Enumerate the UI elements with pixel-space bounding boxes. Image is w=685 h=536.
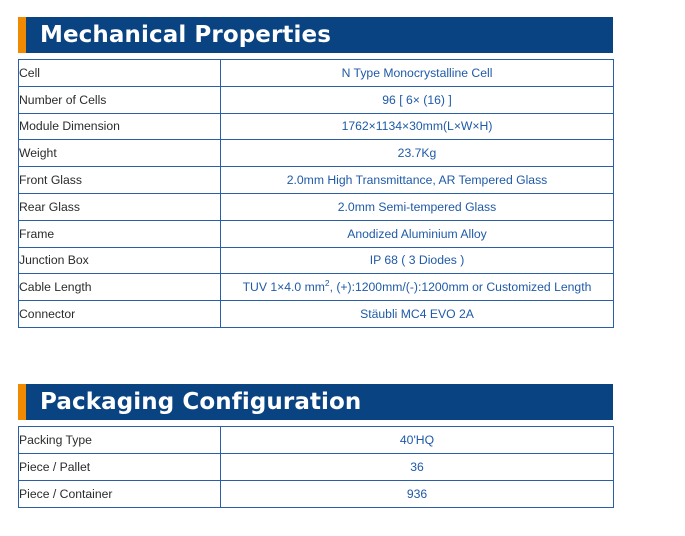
mechanical-properties-table: Cell N Type Monocrystalline Cell Number … (18, 59, 614, 328)
table-row: Cable Length TUV 1×4.0 mm2, (+):1200mm/(… (19, 274, 614, 301)
section-mechanical-properties: Mechanical Properties Cell N Type Monocr… (18, 17, 613, 328)
accent-bar-icon (18, 17, 26, 53)
row-value-cable-length: TUV 1×4.0 mm2, (+):1200mm/(-):1200mm or … (221, 274, 614, 301)
table-row: Connector Stäubli MC4 EVO 2A (19, 301, 614, 328)
row-label: Piece / Container (19, 481, 221, 508)
section-packaging-configuration: Packaging Configuration Packing Type 40'… (18, 384, 613, 508)
row-label: Module Dimension (19, 113, 221, 140)
table-row: Cell N Type Monocrystalline Cell (19, 60, 614, 87)
table-row: Number of Cells 96 [ 6× (16) ] (19, 86, 614, 113)
row-label: Piece / Pallet (19, 454, 221, 481)
cable-length-pre: TUV 1×4.0 mm (243, 280, 325, 294)
section-title-packaging: Packaging Configuration (40, 391, 361, 414)
cable-length-post: , (+):1200mm/(-):1200mm or Customized Le… (330, 280, 592, 294)
row-value: 40'HQ (221, 427, 614, 454)
row-value: 1762×1134×30mm(L×W×H) (221, 113, 614, 140)
table-row: Packing Type 40'HQ (19, 427, 614, 454)
row-label: Junction Box (19, 247, 221, 274)
section-title-mechanical: Mechanical Properties (40, 24, 331, 47)
row-label: Cable Length (19, 274, 221, 301)
row-label: Rear Glass (19, 193, 221, 220)
row-value: Stäubli MC4 EVO 2A (221, 301, 614, 328)
table-row: Weight 23.7Kg (19, 140, 614, 167)
datasheet-page: Mechanical Properties Cell N Type Monocr… (0, 0, 685, 536)
row-value: 96 [ 6× (16) ] (221, 86, 614, 113)
row-value: 936 (221, 481, 614, 508)
row-label: Front Glass (19, 167, 221, 194)
section-header-mechanical: Mechanical Properties (18, 17, 613, 53)
row-value: IP 68 ( 3 Diodes ) (221, 247, 614, 274)
table-row: Frame Anodized Aluminium Alloy (19, 220, 614, 247)
row-value: 23.7Kg (221, 140, 614, 167)
row-value: 36 (221, 454, 614, 481)
row-label: Frame (19, 220, 221, 247)
row-value: 2.0mm High Transmittance, AR Tempered Gl… (221, 167, 614, 194)
section-header-packaging: Packaging Configuration (18, 384, 613, 420)
row-value: N Type Monocrystalline Cell (221, 60, 614, 87)
accent-bar-icon (18, 384, 26, 420)
row-label: Weight (19, 140, 221, 167)
packaging-configuration-table: Packing Type 40'HQ Piece / Pallet 36 Pie… (18, 426, 614, 508)
row-value: Anodized Aluminium Alloy (221, 220, 614, 247)
table-row: Front Glass 2.0mm High Transmittance, AR… (19, 167, 614, 194)
table-row: Junction Box IP 68 ( 3 Diodes ) (19, 247, 614, 274)
table-row: Piece / Container 936 (19, 481, 614, 508)
row-label: Cell (19, 60, 221, 87)
table-row: Rear Glass 2.0mm Semi-tempered Glass (19, 193, 614, 220)
row-label: Connector (19, 301, 221, 328)
table-row: Piece / Pallet 36 (19, 454, 614, 481)
row-value: 2.0mm Semi-tempered Glass (221, 193, 614, 220)
table-row: Module Dimension 1762×1134×30mm(L×W×H) (19, 113, 614, 140)
row-label: Packing Type (19, 427, 221, 454)
row-label: Number of Cells (19, 86, 221, 113)
